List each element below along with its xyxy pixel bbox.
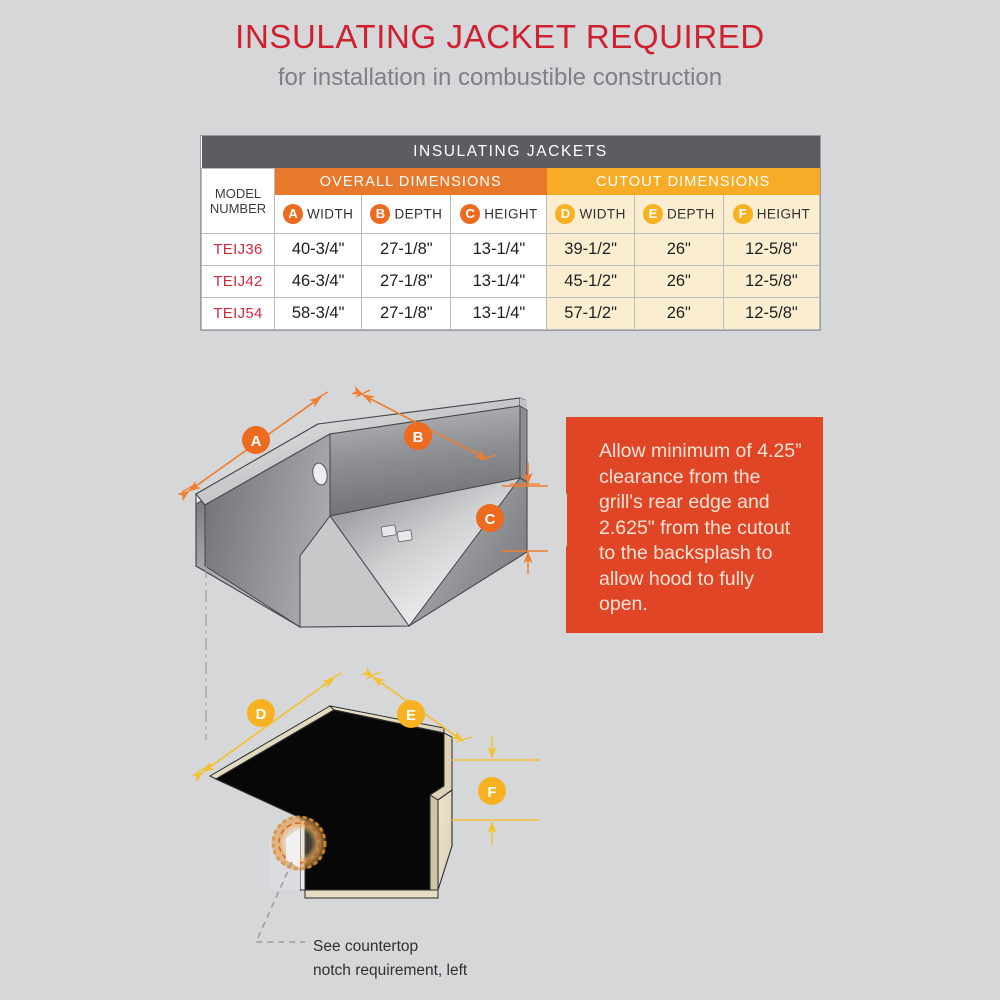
notch-caption: See countertop notch requirement, left bbox=[313, 935, 573, 983]
badge-f-diagram-label: F bbox=[487, 784, 496, 801]
badge-b-diagram-label: B bbox=[413, 429, 424, 446]
badge-e-diagram-label: E bbox=[406, 707, 416, 724]
badge-a-diagram-label: A bbox=[251, 433, 262, 450]
clearance-callout: Allow minimum of 4.25” clearance from th… bbox=[566, 417, 823, 633]
insulating-jacket-drawing: A B C bbox=[182, 390, 548, 627]
cutout-drawing: D E F bbox=[196, 672, 540, 942]
notch-caption-line2: notch requirement, left bbox=[313, 959, 573, 983]
infographic-page: INSULATING JACKET REQUIRED for installat… bbox=[0, 0, 1000, 1000]
dimension-f: F bbox=[452, 736, 540, 845]
clearance-callout-text: Allow minimum of 4.25” clearance from th… bbox=[599, 439, 804, 618]
badge-c-diagram-label: C bbox=[485, 511, 496, 528]
callout-notch-icon bbox=[550, 493, 567, 547]
diagrams-layer: A B C bbox=[0, 0, 1000, 1000]
badge-d-diagram-label: D bbox=[256, 706, 267, 723]
notch-caption-line1: See countertop bbox=[313, 935, 573, 959]
